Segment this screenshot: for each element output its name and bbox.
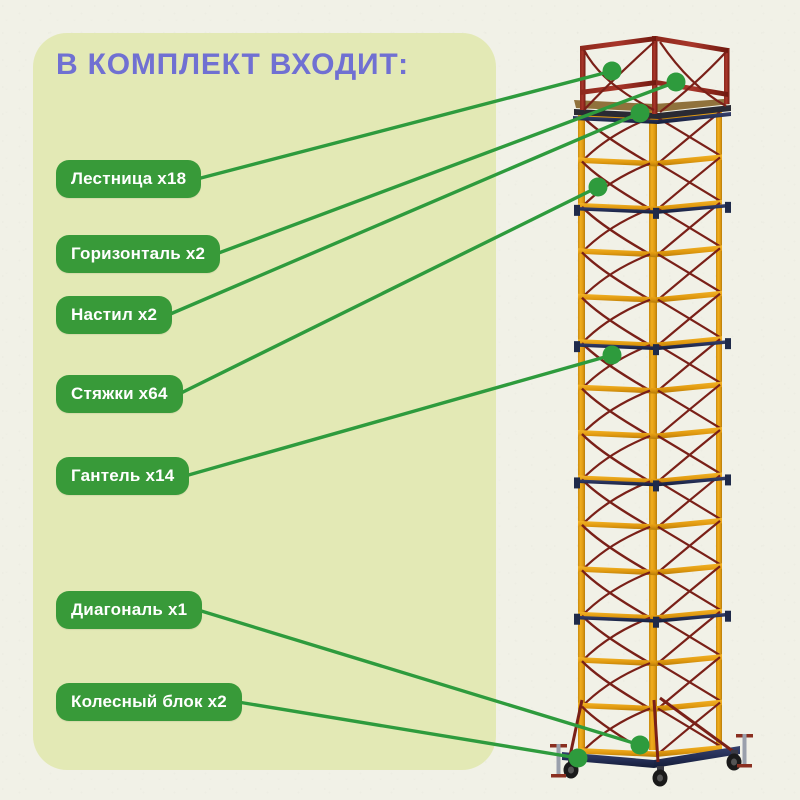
connector-dot[interactable] bbox=[603, 62, 622, 81]
component-pill-label: Колесный блок x2 bbox=[71, 692, 227, 712]
component-pill-label: Диагональ x1 bbox=[71, 600, 187, 620]
component-pill-label: Лестница x18 bbox=[71, 169, 186, 189]
component-pill[interactable]: Гантель x14 bbox=[56, 457, 189, 495]
component-pill[interactable]: Диагональ x1 bbox=[56, 591, 202, 629]
component-pill[interactable]: Стяжки x64 bbox=[56, 375, 183, 413]
component-pill[interactable]: Настил x2 bbox=[56, 296, 172, 334]
component-pill-label: Горизонталь x2 bbox=[71, 244, 205, 264]
connector-dot[interactable] bbox=[631, 104, 650, 123]
component-pill-label: Стяжки x64 bbox=[71, 384, 168, 404]
connector-dot[interactable] bbox=[589, 178, 608, 197]
component-pill-label: Гантель x14 bbox=[71, 466, 174, 486]
connector-dot[interactable] bbox=[667, 73, 686, 92]
component-pill[interactable]: Горизонталь x2 bbox=[56, 235, 220, 273]
component-pill[interactable]: Колесный блок x2 bbox=[56, 683, 242, 721]
component-pill-label: Настил x2 bbox=[71, 305, 157, 325]
infographic-canvas: В КОМПЛЕКТ ВХОДИТ: Лестница x18Горизонта… bbox=[0, 0, 800, 800]
page-title: В КОМПЛЕКТ ВХОДИТ: bbox=[56, 48, 409, 82]
component-pill[interactable]: Лестница x18 bbox=[56, 160, 201, 198]
connector-dot[interactable] bbox=[569, 749, 588, 768]
connector-dot[interactable] bbox=[603, 346, 622, 365]
connector-dot[interactable] bbox=[631, 736, 650, 755]
